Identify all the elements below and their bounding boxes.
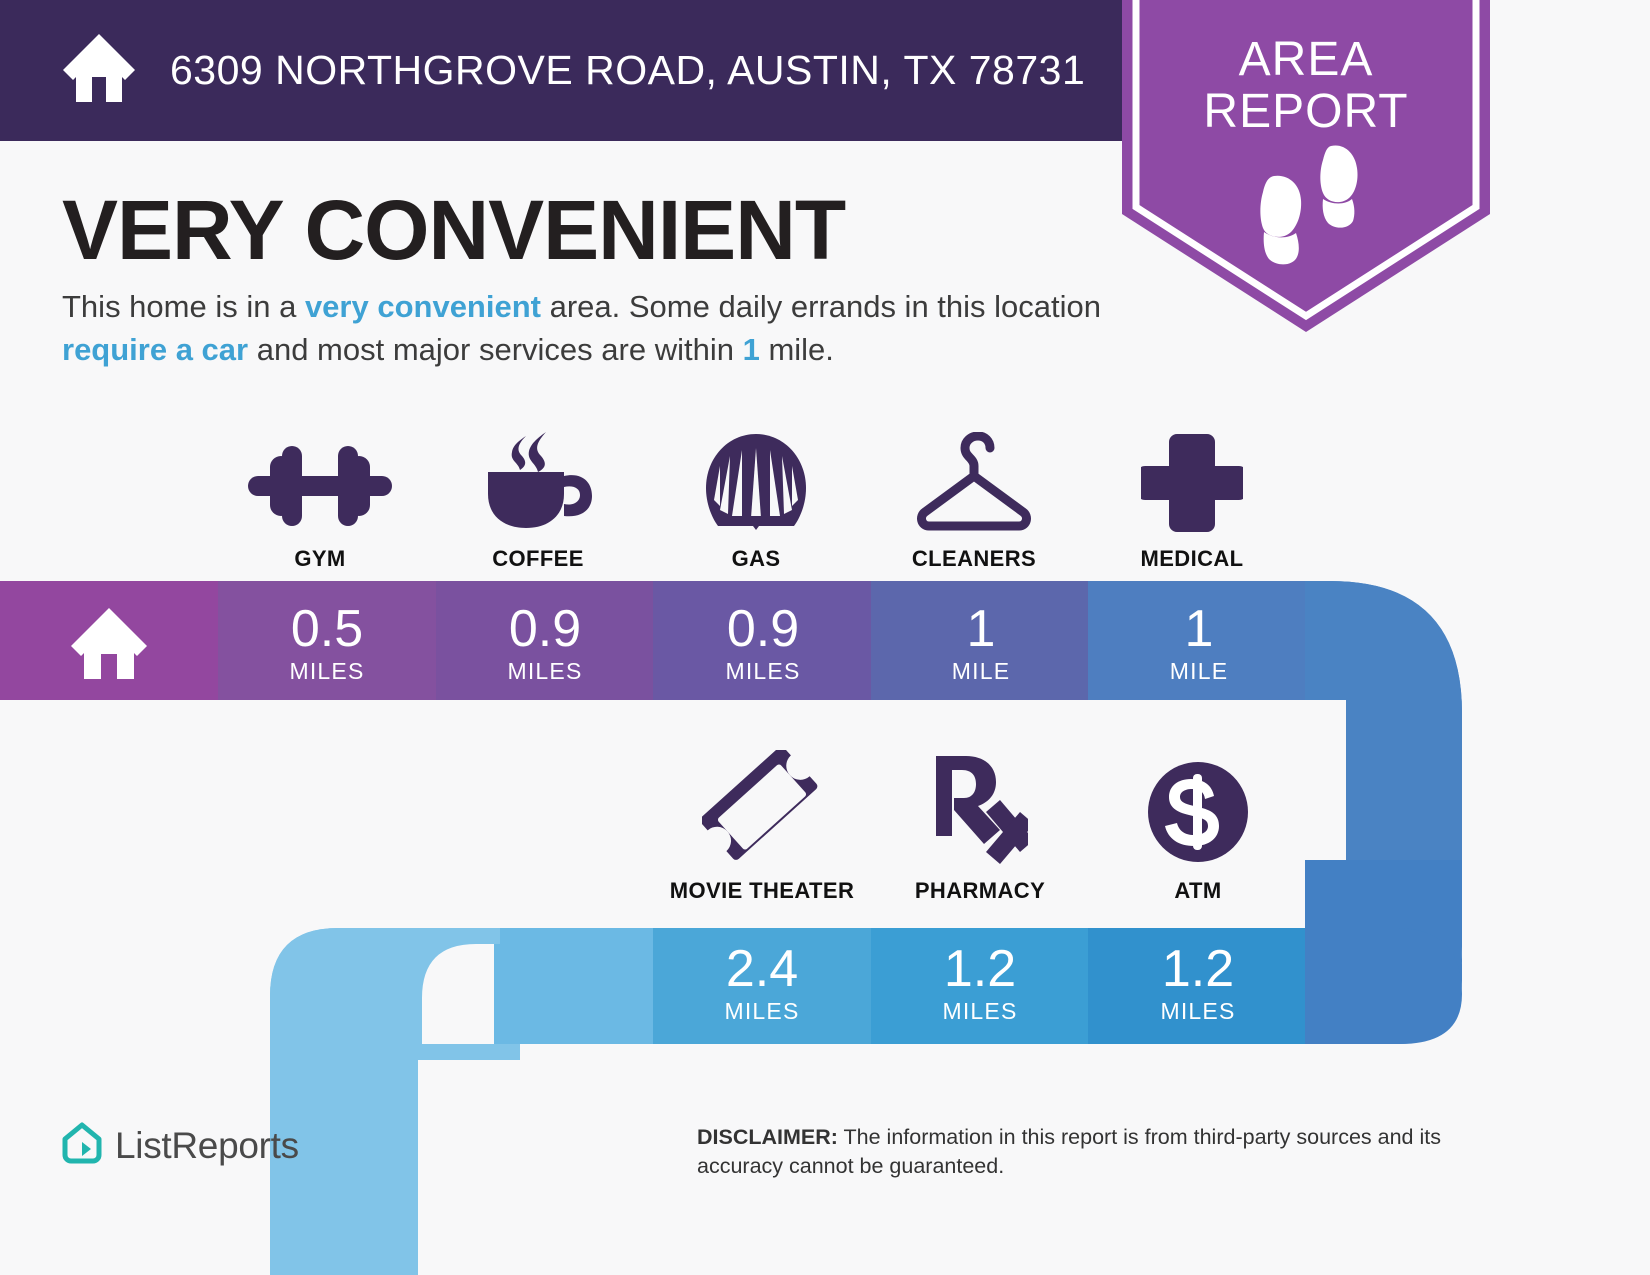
summary-highlight-3: 1 xyxy=(743,332,760,367)
distance-unit: MILES xyxy=(507,658,582,685)
amenity-icon-row-secondary: MOVIE THEATER PHARMACY xyxy=(653,760,1307,904)
summary-part-4: mile. xyxy=(760,332,834,367)
shell-icon xyxy=(704,428,808,532)
amenity-atm: ATM xyxy=(1089,760,1307,904)
distance-pharmacy: 1.2 MILES xyxy=(871,928,1089,1040)
rx-icon xyxy=(932,760,1028,864)
distance-value: 1.2 xyxy=(944,943,1016,996)
amenity-cleaners: CLEANERS xyxy=(865,428,1083,572)
distance-value: 0.5 xyxy=(291,603,363,656)
amenity-medical: MEDICAL xyxy=(1083,428,1301,572)
listreports-wordmark: ListReports xyxy=(115,1125,299,1167)
property-address: 6309 NORTHGROVE ROAD, AUSTIN, TX 78731 xyxy=(170,47,1085,94)
distance-unit: MILE xyxy=(1170,658,1228,685)
disclaimer-label: DISCLAIMER: xyxy=(697,1125,838,1149)
clothes-hanger-icon xyxy=(911,428,1037,532)
summary-part-2: area. Some daily errands in this locatio… xyxy=(541,289,1101,324)
amenity-label: COFFEE xyxy=(492,546,584,572)
medical-cross-icon xyxy=(1141,428,1243,532)
distance-unit: MILES xyxy=(725,658,800,685)
distance-unit: MILES xyxy=(289,658,364,685)
amenity-label: GAS xyxy=(732,546,781,572)
distance-movie-theater: 2.4 MILES xyxy=(653,928,871,1040)
disclaimer-text: DISCLAIMER: The information in this repo… xyxy=(697,1123,1505,1181)
amenity-coffee: COFFEE xyxy=(429,428,647,572)
area-report-badge: AREA REPORT xyxy=(1122,0,1490,332)
distance-coffee: 0.9 MILES xyxy=(436,588,654,700)
amenity-label: CLEANERS xyxy=(912,546,1036,572)
distance-unit: MILE xyxy=(952,658,1010,685)
distance-value: 1 xyxy=(967,603,996,656)
page-title: VERY CONVENIENT xyxy=(62,188,845,272)
amenity-label: GYM xyxy=(294,546,345,572)
header-bar: 6309 NORTHGROVE ROAD, AUSTIN, TX 78731 xyxy=(0,0,1205,141)
coffee-cup-icon xyxy=(482,428,594,532)
amenity-pharmacy: PHARMACY xyxy=(871,760,1089,904)
distance-value: 2.4 xyxy=(726,943,798,996)
amenity-label: MOVIE THEATER xyxy=(670,878,854,904)
amenity-gym: GYM xyxy=(211,428,429,572)
distance-medical: 1 MILE xyxy=(1090,588,1308,700)
distance-unit: MILES xyxy=(1160,998,1235,1025)
distance-values-primary: 0.5 MILES 0.9 MILES 0.9 MILES 1 MILE 1 M… xyxy=(218,588,1308,700)
ribbon-right-turn xyxy=(1292,581,1462,1044)
movie-ticket-icon xyxy=(702,760,822,864)
distance-value: 0.9 xyxy=(509,603,581,656)
distance-values-secondary: 2.4 MILES 1.2 MILES 1.2 MILES xyxy=(653,928,1307,1040)
amenity-icon-row-primary: GYM COFFEE xyxy=(211,428,1301,572)
dollar-circle-icon xyxy=(1146,760,1250,864)
listreports-logo: ListReports xyxy=(62,1122,299,1169)
distance-unit: MILES xyxy=(724,998,799,1025)
distance-gym: 0.5 MILES xyxy=(218,588,436,700)
distance-unit: MILES xyxy=(942,998,1017,1025)
distance-value: 1.2 xyxy=(1162,943,1234,996)
amenity-movie-theater: MOVIE THEATER xyxy=(653,760,871,904)
house-icon xyxy=(60,31,138,110)
summary-highlight-1: very convenient xyxy=(305,289,541,324)
distance-gas: 0.9 MILES xyxy=(654,588,872,700)
summary-part-1: This home is in a xyxy=(62,289,305,324)
dumbbell-icon xyxy=(248,428,392,532)
distance-value: 1 xyxy=(1185,603,1214,656)
distance-value: 0.9 xyxy=(727,603,799,656)
amenity-gas: GAS xyxy=(647,428,865,572)
listreports-house-icon xyxy=(62,1122,102,1169)
summary-highlight-2: require a car xyxy=(62,332,248,367)
summary-part-3: and most major services are within xyxy=(248,332,742,367)
home-marker xyxy=(0,588,218,700)
area-report-infographic: 6309 NORTHGROVE ROAD, AUSTIN, TX 78731 A… xyxy=(0,0,1650,1275)
distance-cleaners: 1 MILE xyxy=(872,588,1090,700)
summary-paragraph: This home is in a very convenient area. … xyxy=(62,285,1107,371)
amenity-label: MEDICAL xyxy=(1140,546,1243,572)
amenity-label: PHARMACY xyxy=(915,878,1045,904)
distance-atm: 1.2 MILES xyxy=(1089,928,1307,1040)
amenity-label: ATM xyxy=(1174,878,1221,904)
